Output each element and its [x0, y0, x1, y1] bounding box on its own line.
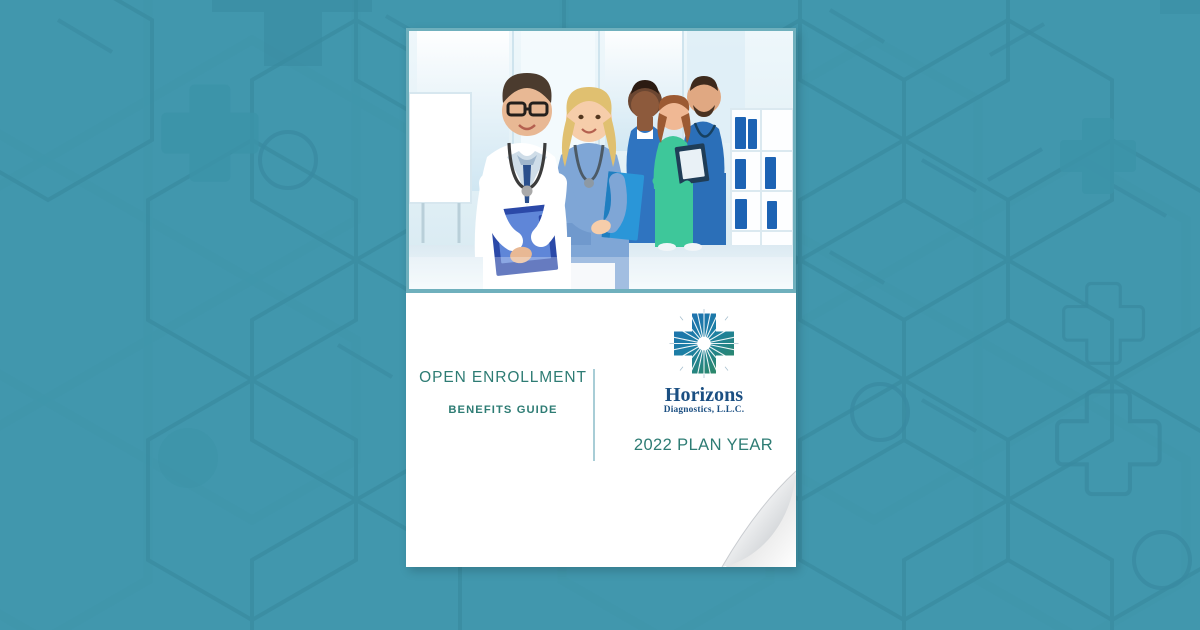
brochure-cover-card[interactable]: OPEN ENROLLMENT BENEFITS GUIDE	[406, 28, 796, 567]
cover-photo-frame	[406, 28, 796, 293]
horizons-wordmark: Horizons Diagnostics, L.L.C.	[652, 382, 756, 416]
horizons-wordmark-text: Horizons	[664, 384, 742, 406]
horizons-cross-sunburst-logo	[666, 309, 742, 381]
cover-info-panel: OPEN ENROLLMENT BENEFITS GUIDE	[406, 293, 796, 567]
horizons-tagline-text: Diagnostics, L.L.C.	[663, 405, 744, 415]
vertical-divider	[593, 369, 595, 461]
enrollment-title-block: OPEN ENROLLMENT BENEFITS GUIDE	[406, 369, 600, 416]
brand-block: Horizons Diagnostics, L.L.C. 2022 PLAN Y…	[611, 309, 796, 455]
page-subtitle: BENEFITS GUIDE	[406, 404, 600, 416]
page-title: OPEN ENROLLMENT	[406, 369, 600, 387]
healthcare-team-photo	[409, 31, 793, 289]
page-stage: OPEN ENROLLMENT BENEFITS GUIDE	[0, 0, 1200, 630]
page-curl-corner	[708, 467, 796, 567]
plan-year-label: 2022 PLAN YEAR	[634, 436, 773, 455]
